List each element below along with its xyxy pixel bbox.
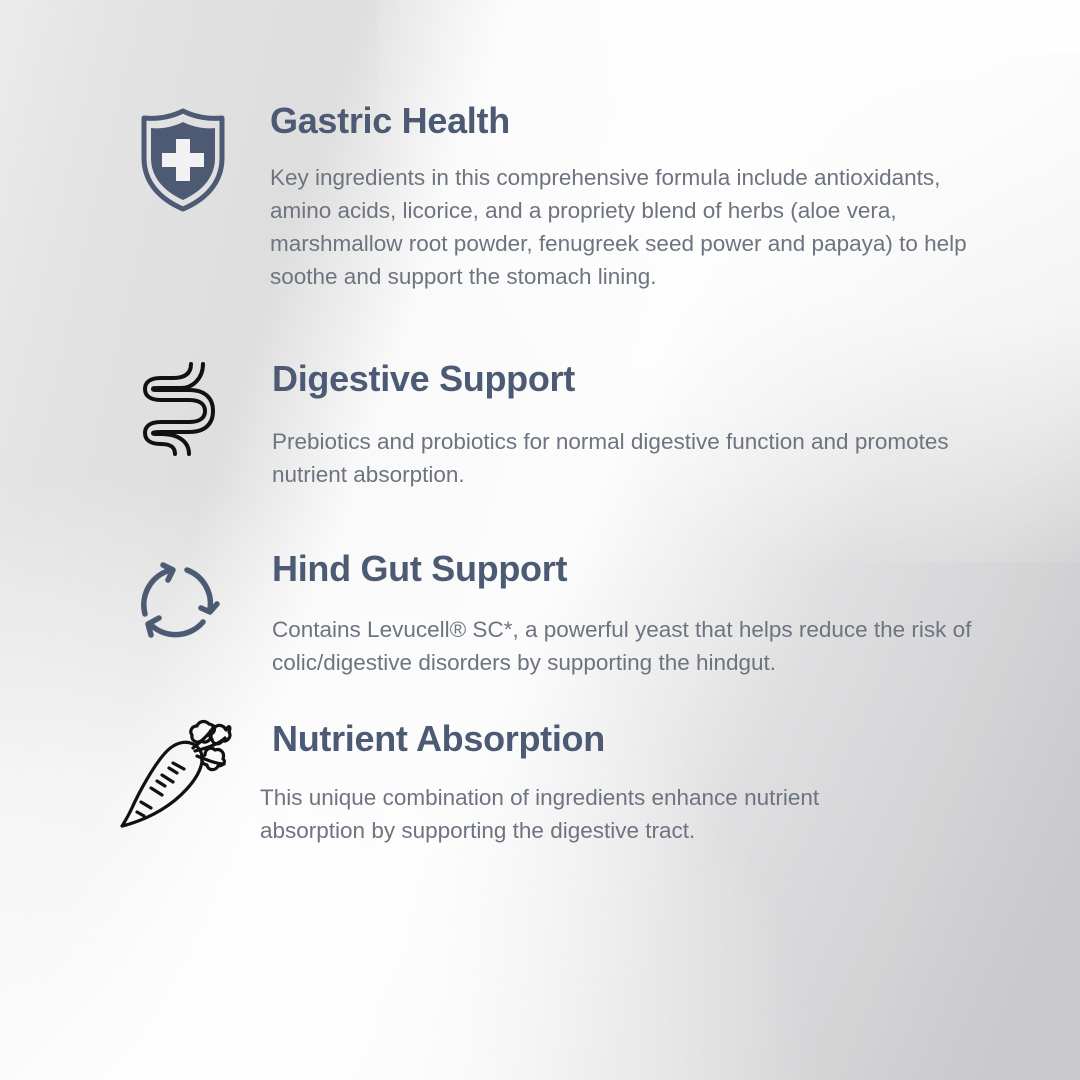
feature-icon-container <box>108 100 258 212</box>
feature-description: This unique combination of ingredients e… <box>260 781 920 847</box>
benefits-list: Gastric Health Key ingredients in this c… <box>0 0 1080 1080</box>
feature-text-container: Digestive Support Prebiotics and probiot… <box>272 358 1000 491</box>
feature-title: Gastric Health <box>270 102 1008 141</box>
feature-description: Key ingredients in this comprehensive fo… <box>270 161 970 293</box>
feature-item-nutrient-absorption: Nutrient Absorption This unique combinat… <box>100 718 1000 847</box>
recycle-cycle-icon <box>133 554 225 646</box>
intestine-icon <box>135 360 215 456</box>
feature-title: Digestive Support <box>272 360 1000 399</box>
feature-description: Contains Levucell® SC*, a powerful yeast… <box>272 613 982 679</box>
shield-cross-icon <box>137 108 229 212</box>
feature-icon-container <box>100 718 250 834</box>
feature-item-hind-gut-support: Hind Gut Support Contains Levucell® SC*,… <box>104 548 1004 679</box>
feature-icon-container <box>104 548 254 646</box>
carrot-icon <box>113 718 237 834</box>
feature-text-container: Nutrient Absorption This unique combinat… <box>272 718 1000 847</box>
feature-icon-container <box>100 358 250 456</box>
feature-description: Prebiotics and probiotics for normal dig… <box>272 425 952 491</box>
feature-item-gastric-health: Gastric Health Key ingredients in this c… <box>108 100 1008 293</box>
feature-title: Hind Gut Support <box>272 550 1004 589</box>
feature-item-digestive-support: Digestive Support Prebiotics and probiot… <box>100 358 1000 491</box>
feature-text-container: Hind Gut Support Contains Levucell® SC*,… <box>272 548 1004 679</box>
feature-title: Nutrient Absorption <box>272 720 1000 759</box>
feature-text-container: Gastric Health Key ingredients in this c… <box>270 100 1008 293</box>
